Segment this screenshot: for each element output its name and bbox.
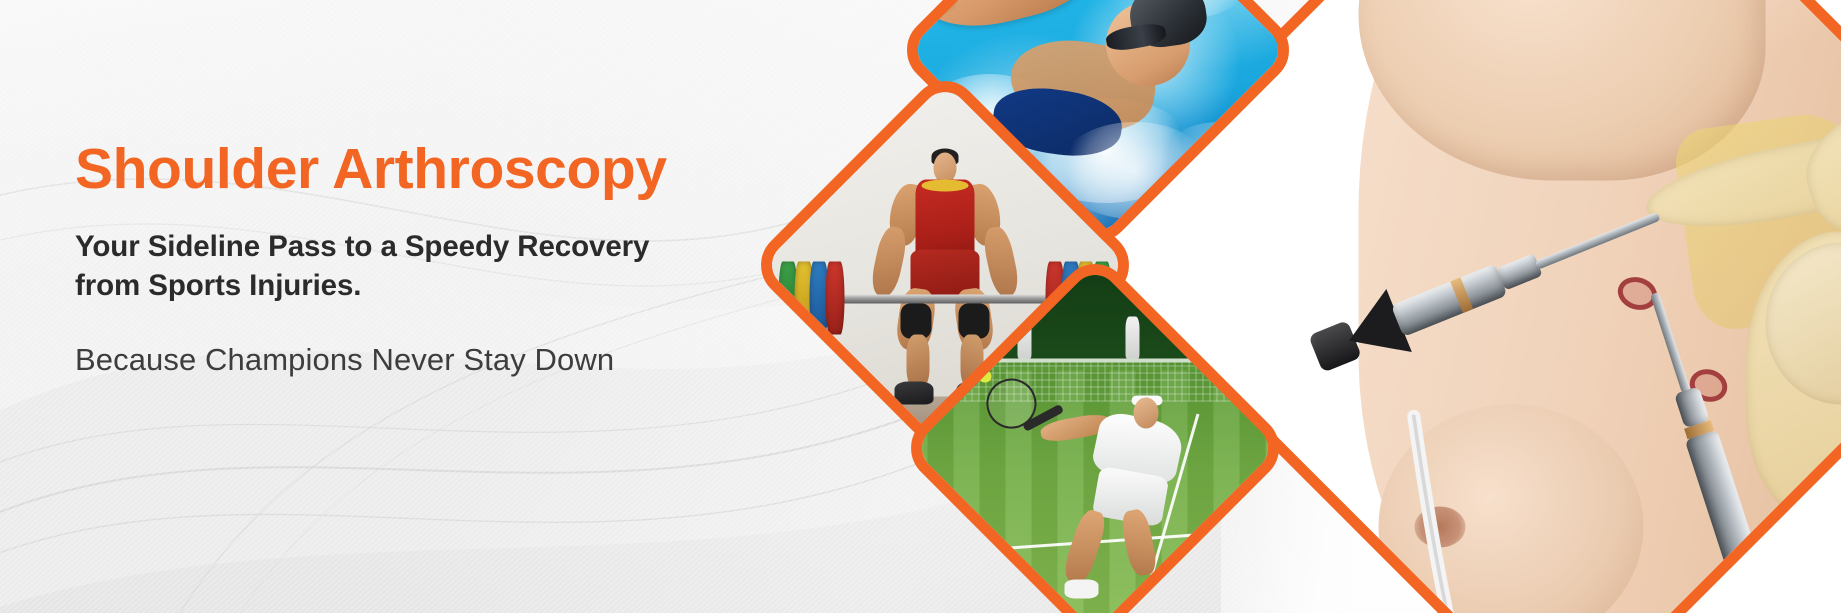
lifter-knee-sleeve-right: [959, 304, 990, 339]
lifter-shoe-left: [895, 381, 934, 404]
subheading: Your Sideline Pass to a Speedy Recovery …: [75, 227, 795, 305]
lifter-knee-sleeve-left: [900, 304, 931, 339]
shoulder-arthroscopy-banner: Shoulder Arthroscopy Your Sideline Pass …: [0, 0, 1841, 613]
tagline: Because Champions Never Stay Down: [75, 343, 795, 377]
swimmer-arm: [914, 0, 1097, 41]
subheading-line-1: Your Sideline Pass to a Speedy Recovery: [75, 227, 795, 266]
banner-copy: Shoulder Arthroscopy Your Sideline Pass …: [75, 140, 795, 377]
subheading-line-2: from Sports Injuries.: [75, 266, 795, 305]
page-title: Shoulder Arthroscopy: [75, 140, 795, 200]
tennis-player-shoe: [1064, 580, 1099, 599]
